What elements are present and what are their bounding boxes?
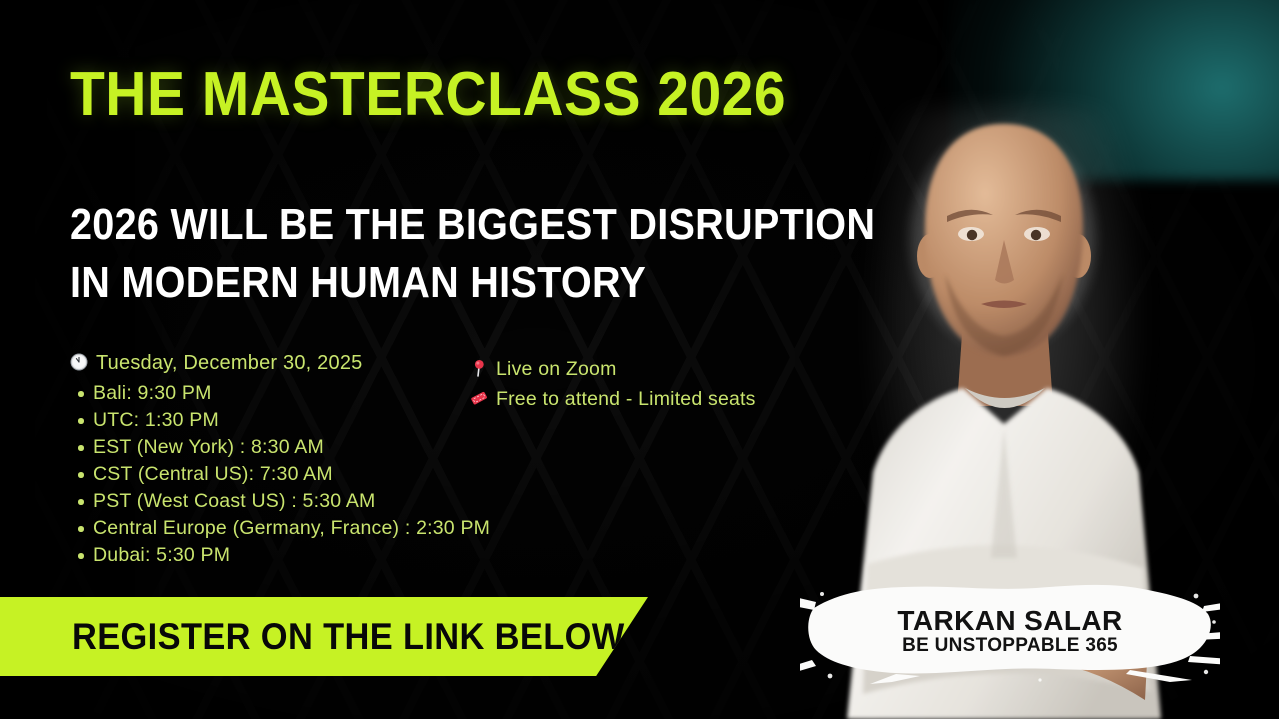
ticket-icon bbox=[470, 390, 488, 409]
timezone-list: Bali: 9:30 PM UTC: 1:30 PM EST (New York… bbox=[70, 380, 470, 569]
free-to-attend-row: Free to attend - Limited seats bbox=[470, 384, 756, 414]
promo-flyer: THE MASTERCLASS 2026 2026 WILL BE THE BI… bbox=[0, 0, 1279, 719]
logistics-column: Live on Zoom Free to attend - Limited se… bbox=[470, 352, 756, 414]
list-item: PST (West Coast US) : 5:30 AM bbox=[93, 488, 470, 515]
event-details: Tuesday, December 30, 2025 Bali: 9:30 PM… bbox=[70, 352, 850, 569]
pushpin-icon bbox=[470, 359, 488, 380]
speaker-nameplate: TARKAN SALAR BE UNSTOPPABLE 365 bbox=[800, 572, 1220, 690]
subheadline: 2026 WILL BE THE BIGGEST DISRUPTION IN M… bbox=[70, 196, 875, 312]
list-item: UTC: 1:30 PM bbox=[93, 407, 470, 434]
register-cta-banner[interactable]: REGISTER ON THE LINK BELOW bbox=[0, 597, 648, 676]
subheadline-line-2: IN MODERN HUMAN HISTORY bbox=[70, 254, 875, 312]
register-cta-label: REGISTER ON THE LINK BELOW bbox=[72, 616, 625, 658]
list-item: Central Europe (Germany, France) : 2:30 … bbox=[93, 515, 470, 542]
schedule-column: Tuesday, December 30, 2025 Bali: 9:30 PM… bbox=[70, 352, 470, 569]
speaker-tagline: BE UNSTOPPABLE 365 bbox=[902, 636, 1118, 656]
event-date-row: Tuesday, December 30, 2025 bbox=[70, 352, 470, 375]
list-item: EST (New York) : 8:30 AM bbox=[93, 434, 470, 461]
free-to-attend-text: Free to attend - Limited seats bbox=[496, 384, 756, 414]
subheadline-line-1: 2026 WILL BE THE BIGGEST DISRUPTION bbox=[70, 196, 875, 254]
speaker-name: TARKAN SALAR bbox=[897, 606, 1122, 635]
event-date-text: Tuesday, December 30, 2025 bbox=[96, 352, 362, 375]
list-item: Bali: 9:30 PM bbox=[93, 380, 470, 407]
live-on-zoom-text: Live on Zoom bbox=[496, 354, 617, 384]
list-item: CST (Central US): 7:30 AM bbox=[93, 461, 470, 488]
clock-icon bbox=[70, 353, 88, 374]
live-on-zoom-row: Live on Zoom bbox=[470, 354, 756, 384]
list-item: Dubai: 5:30 PM bbox=[93, 542, 470, 569]
page-title: THE MASTERCLASS 2026 bbox=[70, 64, 786, 126]
